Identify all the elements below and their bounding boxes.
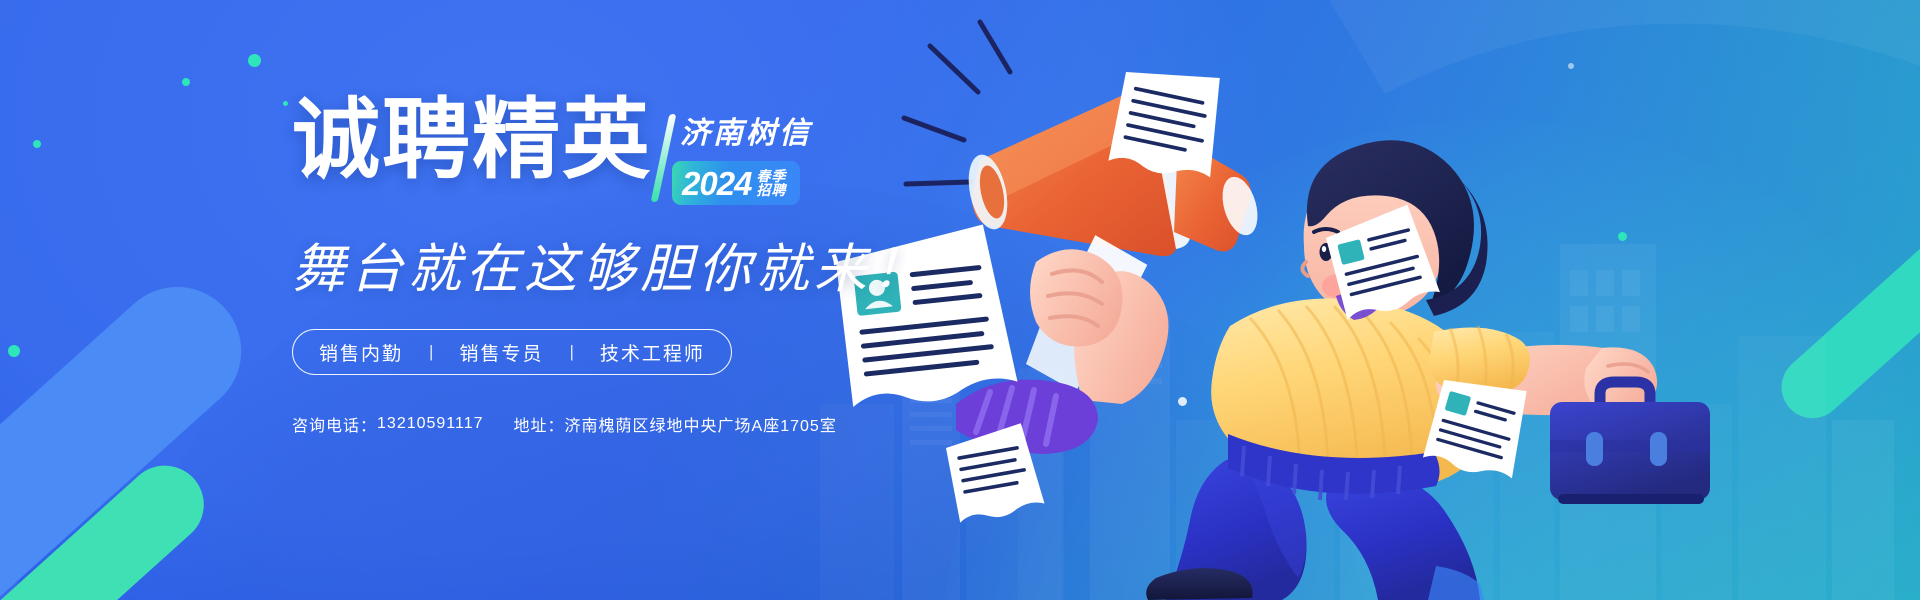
job-tag-3[interactable]: 技术工程师: [600, 339, 705, 366]
tag-separator: |: [569, 342, 573, 362]
decorative-bar-blue: [0, 261, 268, 600]
recruitment-banner: 诚聘精英 济南树信 2024 春季 招聘 舞台就在这够胆你就来！ 销售内勤 | …: [0, 0, 1920, 600]
phone-label: 咨询电话：: [292, 412, 377, 436]
decorative-dot: [248, 54, 261, 67]
season-label: 春季 招聘: [756, 169, 786, 198]
address-value: 济南槐荫区绿地中央广场A座1705室: [565, 412, 837, 436]
page-title: 诚聘精英: [292, 96, 652, 184]
job-tags-pill[interactable]: 销售内勤 | 销售专员 | 技术工程师: [292, 329, 732, 375]
decorative-bar-green: [0, 450, 220, 600]
contact-info: 咨询电话： 13210591117 地址： 济南槐荫区绿地中央广场A座1705室: [292, 412, 837, 436]
season-line-2: 招聘: [756, 183, 786, 197]
legs: [1146, 434, 1484, 600]
year-badge: 2024 春季 招聘: [672, 161, 800, 205]
year-label: 2024: [682, 167, 751, 200]
season-line-1: 春季: [756, 169, 786, 183]
job-tag-1[interactable]: 销售内勤: [319, 339, 403, 366]
banner-text-content: 诚聘精英 济南树信 2024 春季 招聘 舞台就在这够胆你就来！ 销售内勤 | …: [292, 96, 1052, 375]
phone-value[interactable]: 13210591117: [377, 415, 484, 433]
brand-block: 济南树信 2024 春季 招聘: [666, 96, 812, 205]
decorative-dot: [33, 140, 41, 148]
company-name: 济南树信: [680, 108, 812, 152]
decorative-dot: [283, 101, 288, 106]
address-label: 地址：: [514, 412, 565, 436]
job-tag-2[interactable]: 销售专员: [459, 339, 543, 366]
subtitle: 舞台就在这够胆你就来！: [292, 227, 1052, 303]
decorative-dot: [8, 345, 20, 357]
tag-separator: |: [429, 342, 433, 362]
headline-row: 诚聘精英 济南树信 2024 春季 招聘: [292, 96, 1052, 205]
decorative-dot: [182, 78, 190, 86]
